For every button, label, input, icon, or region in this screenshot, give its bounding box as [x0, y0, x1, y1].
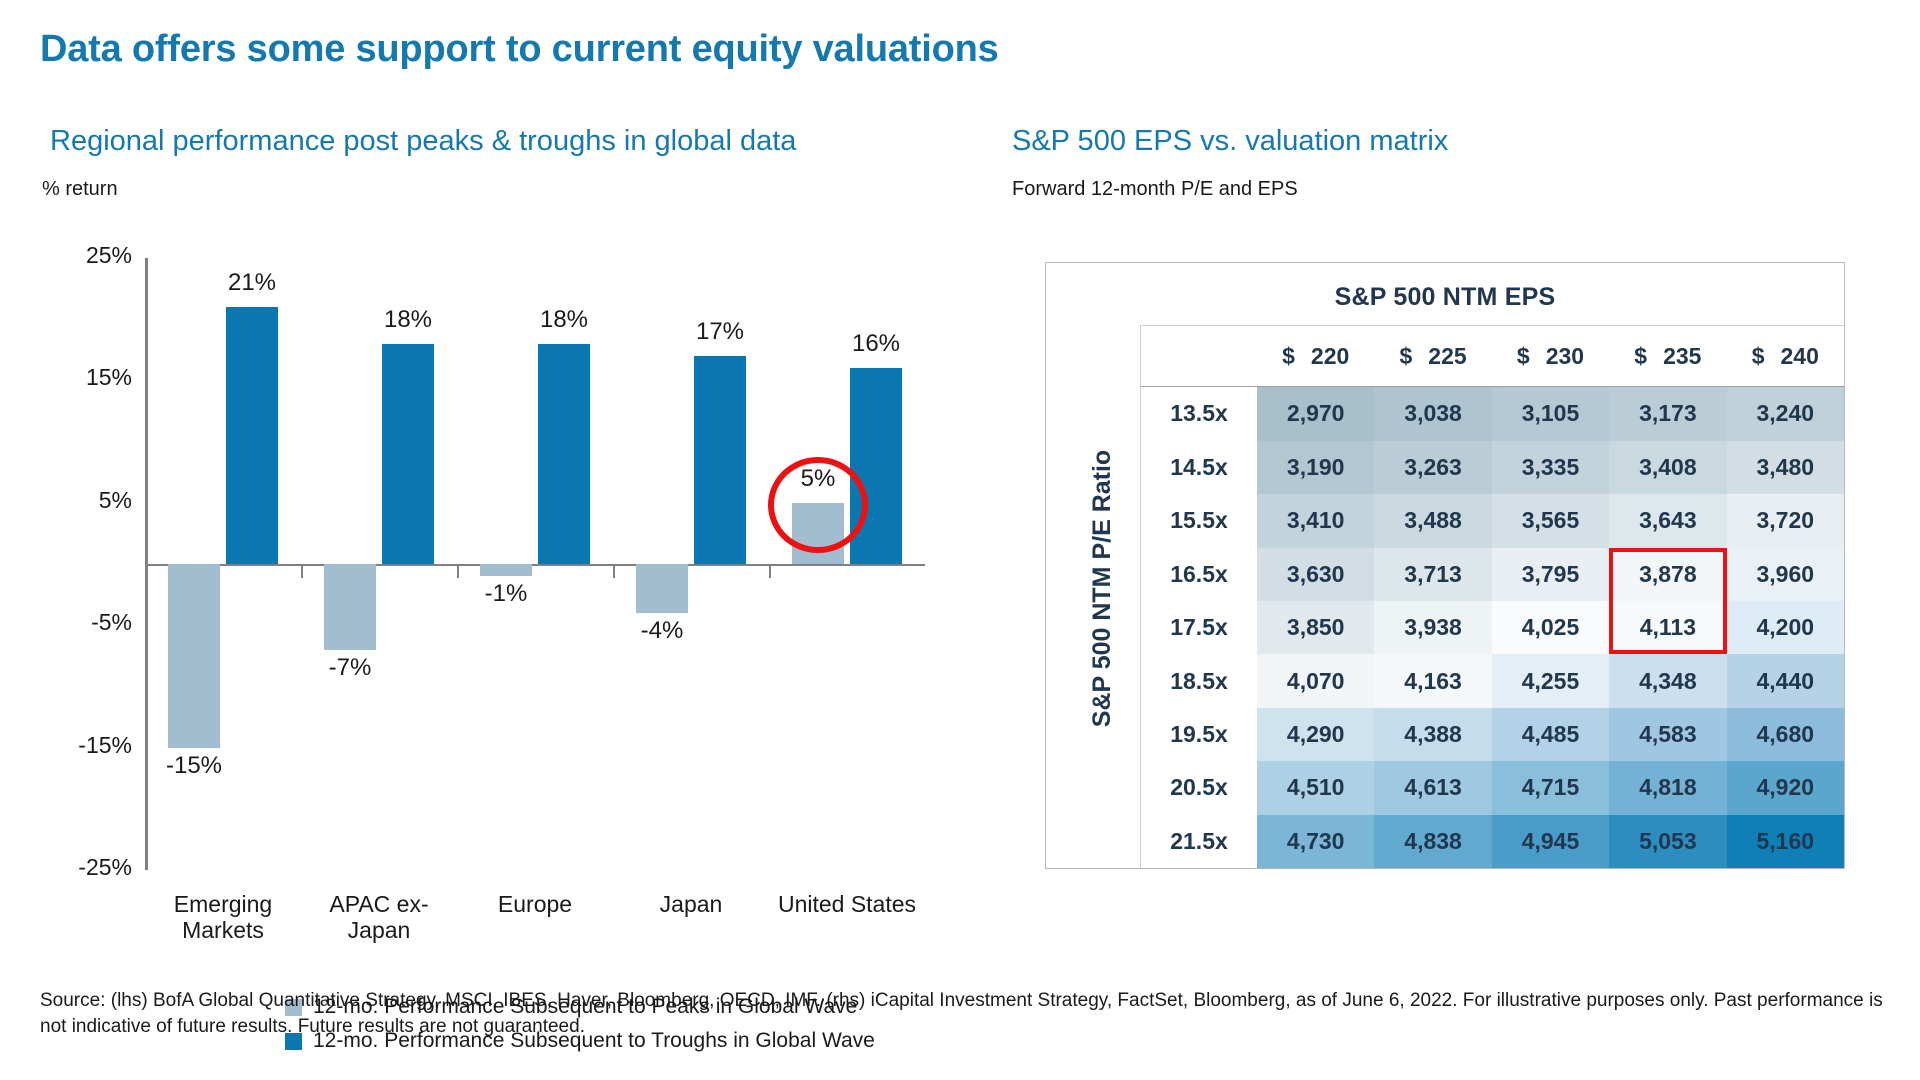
matrix-row-header: 13.5x: [1141, 387, 1257, 441]
matrix-row-header: 15.5x: [1141, 494, 1257, 547]
matrix-row-header: 16.5x: [1141, 548, 1257, 601]
matrix-cell: 4,163: [1374, 654, 1491, 707]
bar-troughs: [694, 356, 746, 564]
bar-peaks: [480, 564, 532, 576]
x-tick: [457, 564, 459, 578]
matrix-row-axis-title: S&P 500 NTM P/E Ratio: [1080, 373, 1126, 803]
matrix-cell: 3,335: [1492, 441, 1609, 494]
matrix-row-header: 21.5x: [1141, 815, 1257, 869]
matrix-cell: 3,488: [1374, 494, 1491, 547]
y-tick-label: -5%: [40, 609, 132, 636]
matrix-cell: 5,053: [1609, 815, 1726, 869]
matrix-column-value: 235: [1663, 343, 1701, 369]
matrix-cell: 4,920: [1727, 761, 1844, 814]
matrix-cell: 3,263: [1374, 441, 1491, 494]
bar-peaks: [636, 564, 688, 613]
y-tick-label: -15%: [40, 732, 132, 759]
matrix-row-header: 20.5x: [1141, 761, 1257, 814]
matrix-cell: 4,070: [1257, 654, 1374, 707]
bar-peaks: [324, 564, 376, 650]
matrix-cell: 3,408: [1609, 441, 1726, 494]
red-circle-annotation: [768, 457, 868, 553]
matrix-cell: 4,613: [1374, 761, 1491, 814]
x-tick: [769, 564, 771, 578]
matrix-table-wrapper: $220$225$230$235$240 13.5x2,9703,0383,10…: [1140, 325, 1844, 868]
matrix-thead: $220$225$230$235$240: [1141, 326, 1844, 387]
zero-baseline: [145, 564, 925, 566]
matrix-row: 17.5x3,8503,9384,0254,1134,200: [1141, 601, 1844, 654]
matrix-row: 20.5x4,5104,6134,7154,8184,920: [1141, 761, 1844, 814]
bar-troughs: [538, 344, 590, 564]
currency-symbol: $: [1282, 343, 1295, 370]
matrix-cell: 4,025: [1492, 601, 1609, 654]
matrix-cell: 4,440: [1727, 654, 1844, 707]
bar-value-label-troughs: 18%: [524, 306, 604, 334]
left-panel-subtitle: % return: [42, 178, 118, 201]
currency-symbol: $: [1400, 343, 1413, 370]
matrix-cell: 3,938: [1374, 601, 1491, 654]
matrix-cell: 5,160: [1727, 815, 1844, 869]
matrix-cell: 3,630: [1257, 548, 1374, 601]
currency-symbol: $: [1517, 343, 1530, 370]
x-category-label: Emerging Markets: [145, 892, 301, 944]
matrix-column-value: 240: [1780, 343, 1818, 369]
matrix-table: $220$225$230$235$240 13.5x2,9703,0383,10…: [1141, 326, 1844, 868]
y-tick-label: 25%: [40, 242, 132, 269]
matrix-cell: 3,643: [1609, 494, 1726, 547]
matrix-cell: 4,510: [1257, 761, 1374, 814]
y-tick-label: 15%: [40, 364, 132, 391]
bar-troughs: [382, 344, 434, 564]
matrix-cell: 4,113: [1609, 601, 1726, 654]
bar-value-label-troughs: 21%: [212, 269, 292, 297]
matrix-cell: 3,038: [1374, 387, 1491, 441]
matrix-cell: 3,960: [1727, 548, 1844, 601]
matrix-cell: 3,240: [1727, 387, 1844, 441]
matrix-row-header: 18.5x: [1141, 654, 1257, 707]
matrix-column-header: $240: [1727, 326, 1844, 387]
matrix-cell: 4,680: [1727, 708, 1844, 761]
matrix-cell: 3,173: [1609, 387, 1726, 441]
matrix-cell: 4,945: [1492, 815, 1609, 869]
matrix-cell: 4,715: [1492, 761, 1609, 814]
matrix-column-value: 230: [1546, 343, 1584, 369]
matrix-column-header: $220: [1257, 326, 1374, 387]
matrix-cell: 3,713: [1374, 548, 1491, 601]
matrix-cell: 4,583: [1609, 708, 1726, 761]
matrix-cell: 4,838: [1374, 815, 1491, 869]
bar-value-label-troughs: 18%: [368, 306, 448, 334]
bar-value-label-troughs: 16%: [836, 330, 916, 358]
bar-peaks: [168, 564, 220, 748]
matrix-row-axis-title-text: S&P 500 NTM P/E Ratio: [1089, 449, 1118, 726]
x-tick: [613, 564, 615, 578]
matrix-column-value: 220: [1311, 343, 1349, 369]
matrix-column-header: $225: [1374, 326, 1491, 387]
matrix-row-header: 19.5x: [1141, 708, 1257, 761]
right-panel-title: S&P 500 EPS vs. valuation matrix: [1012, 125, 1448, 158]
matrix-row-header: 17.5x: [1141, 601, 1257, 654]
matrix-cell: 3,410: [1257, 494, 1374, 547]
page-title: Data offers some support to current equi…: [40, 28, 999, 71]
x-category-label: Europe: [457, 892, 613, 918]
matrix-row: 18.5x4,0704,1634,2554,3484,440: [1141, 654, 1844, 707]
matrix-cell: 4,818: [1609, 761, 1726, 814]
matrix-cell: 4,255: [1492, 654, 1609, 707]
matrix-row: 13.5x2,9703,0383,1053,1733,240: [1141, 387, 1844, 441]
matrix-cell: 4,730: [1257, 815, 1374, 869]
x-category-label: APAC ex-Japan: [301, 892, 457, 944]
left-panel-title: Regional performance post peaks & trough…: [50, 125, 796, 158]
matrix-cell: 2,970: [1257, 387, 1374, 441]
matrix-cell: 4,290: [1257, 708, 1374, 761]
matrix-cell: 3,190: [1257, 441, 1374, 494]
matrix-cell: 4,485: [1492, 708, 1609, 761]
matrix-cell: 4,348: [1609, 654, 1726, 707]
currency-symbol: $: [1752, 343, 1765, 370]
right-panel-subtitle: Forward 12-month P/E and EPS: [1012, 178, 1298, 201]
matrix-row: 16.5x3,6303,7133,7953,8783,960: [1141, 548, 1844, 601]
matrix-tbody: 13.5x2,9703,0383,1053,1733,24014.5x3,190…: [1141, 387, 1844, 869]
matrix-row-header: 14.5x: [1141, 441, 1257, 494]
matrix-cell: 3,795: [1492, 548, 1609, 601]
regional-performance-bar-chart: 25%15%5%-5%-15%-25% -15%21%-7%18%-1%18%-…: [40, 240, 940, 930]
bar-value-label-peaks: -15%: [154, 752, 234, 780]
matrix-cell: 3,878: [1609, 548, 1726, 601]
matrix-cell: 4,200: [1727, 601, 1844, 654]
y-tick-label: 5%: [40, 487, 132, 514]
matrix-header-row: $220$225$230$235$240: [1141, 326, 1844, 387]
x-category-label: United States: [769, 892, 925, 918]
matrix-row: 21.5x4,7304,8384,9455,0535,160: [1141, 815, 1844, 869]
matrix-cell: 3,565: [1492, 494, 1609, 547]
currency-symbol: $: [1634, 343, 1647, 370]
matrix-column-axis-title: S&P 500 NTM EPS: [1046, 283, 1844, 312]
matrix-cell: 3,105: [1492, 387, 1609, 441]
source-footnote: Source: (lhs) BofA Global Quantitative S…: [40, 988, 1900, 1040]
matrix-column-header: $230: [1492, 326, 1609, 387]
matrix-cell: 3,850: [1257, 601, 1374, 654]
matrix-column-value: 225: [1428, 343, 1466, 369]
y-tick-label: -25%: [40, 854, 132, 881]
valuation-matrix: S&P 500 NTM EPS S&P 500 NTM P/E Ratio $2…: [1045, 262, 1845, 869]
matrix-row: 15.5x3,4103,4883,5653,6433,720: [1141, 494, 1844, 547]
matrix-row: 19.5x4,2904,3884,4854,5834,680: [1141, 708, 1844, 761]
bar-value-label-peaks: -4%: [622, 617, 702, 645]
matrix-cell: 4,388: [1374, 708, 1491, 761]
bar-value-label-peaks: -7%: [310, 654, 390, 682]
matrix-column-header: $235: [1609, 326, 1726, 387]
matrix-corner-cell: [1141, 326, 1257, 387]
matrix-row: 14.5x3,1903,2633,3353,4083,480: [1141, 441, 1844, 494]
matrix-cell: 3,720: [1727, 494, 1844, 547]
bar-value-label-peaks: -1%: [466, 580, 546, 608]
x-category-label: Japan: [613, 892, 769, 918]
bar-troughs: [226, 307, 278, 564]
x-tick: [301, 564, 303, 578]
matrix-cell: 3,480: [1727, 441, 1844, 494]
bar-value-label-troughs: 17%: [680, 318, 760, 346]
